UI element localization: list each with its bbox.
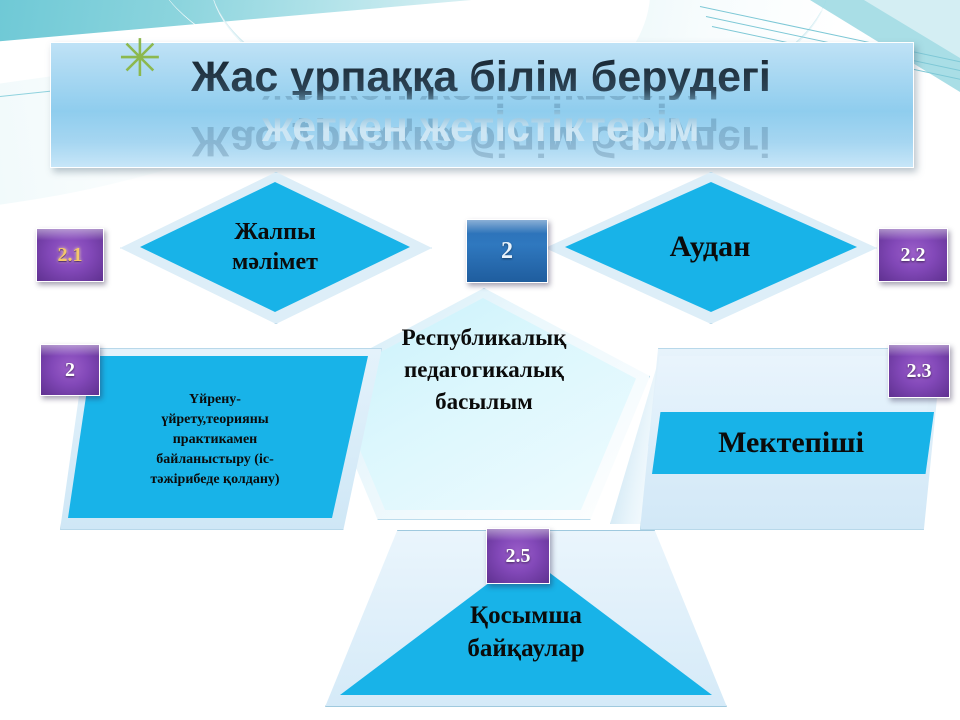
badge-center-2[interactable]: 2 [466, 219, 548, 283]
page-title: Жас ұрпаққа білім берудегі жеткен жетіст… [50, 40, 912, 164]
slide-canvas: Жас ұрпаққа білім берудегі жеткен жетіст… [0, 0, 960, 720]
node-learning-practice-fill[interactable] [68, 356, 368, 518]
node-in-school-fill[interactable] [652, 412, 934, 474]
badge-2-1[interactable]: 2.1 [36, 228, 104, 282]
badge-2-5[interactable]: 2.5 [486, 528, 550, 584]
node-district-fill[interactable] [565, 182, 857, 312]
badge-2-2[interactable]: 2.2 [878, 228, 948, 282]
badge-2-3[interactable]: 2.3 [888, 344, 950, 398]
badge-2-4[interactable]: 2 [40, 344, 100, 396]
title-line-1: Жас ұрпаққа білім берудегі [191, 52, 771, 102]
star-bullet-icon: ✳ [118, 33, 162, 85]
title-line-2: жеткен жетістіктерім [262, 102, 699, 152]
center-pentagon-fill[interactable] [330, 298, 636, 510]
